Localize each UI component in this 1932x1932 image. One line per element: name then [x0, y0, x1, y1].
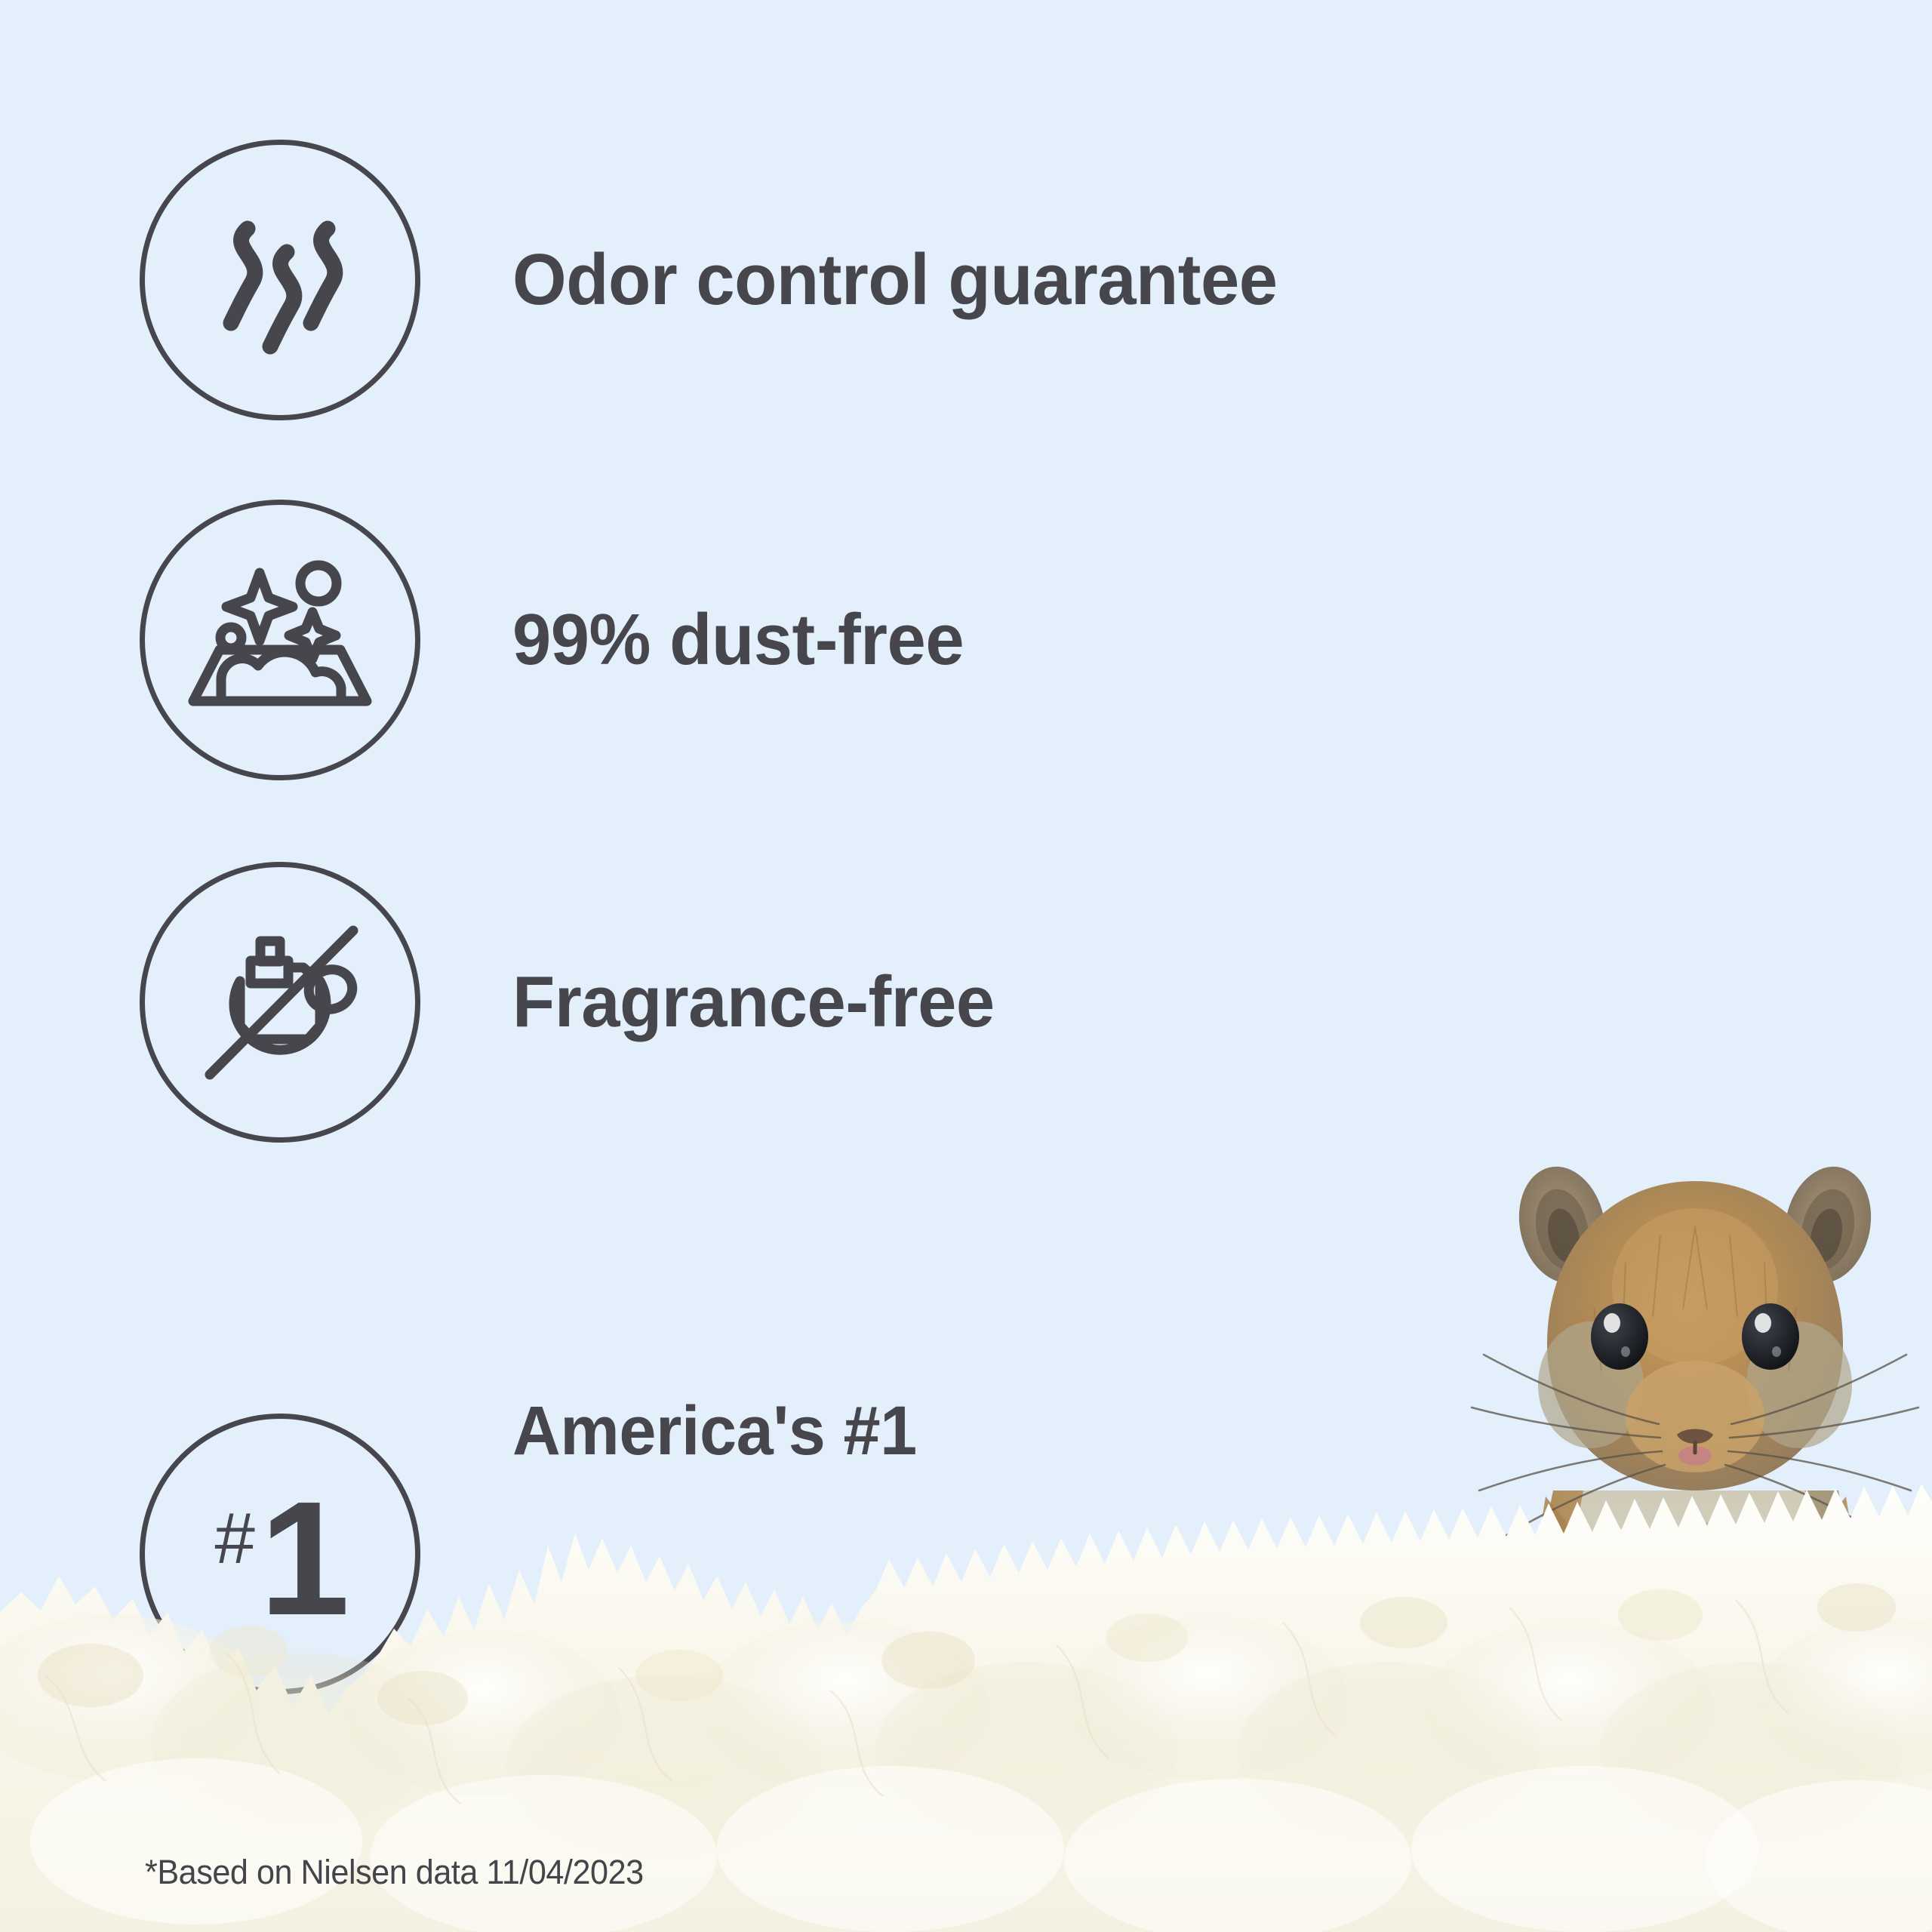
benefit-row-fragrance-free: Fragrance-free: [140, 862, 1014, 1143]
benefit-row-odor-control: Odor control guarantee: [140, 140, 1309, 420]
sparkle-bedding-tray-icon: [140, 500, 420, 780]
footnote-text: *Based on Nielsen data 11/04/2023: [145, 1853, 644, 1892]
odor-waves-icon: [140, 140, 420, 420]
product-benefits-panel: Odor control guarantee: [0, 0, 1932, 1932]
no-perfume-bottle-icon: [140, 862, 420, 1143]
benefit-label-dust-free: 99% dust-free: [512, 604, 964, 676]
benefit-label-fragrance-free: Fragrance-free: [512, 966, 995, 1038]
benefit-label-odor-control: Odor control guarantee: [512, 244, 1278, 316]
benefit-row-dust-free: 99% dust-free: [140, 500, 983, 780]
